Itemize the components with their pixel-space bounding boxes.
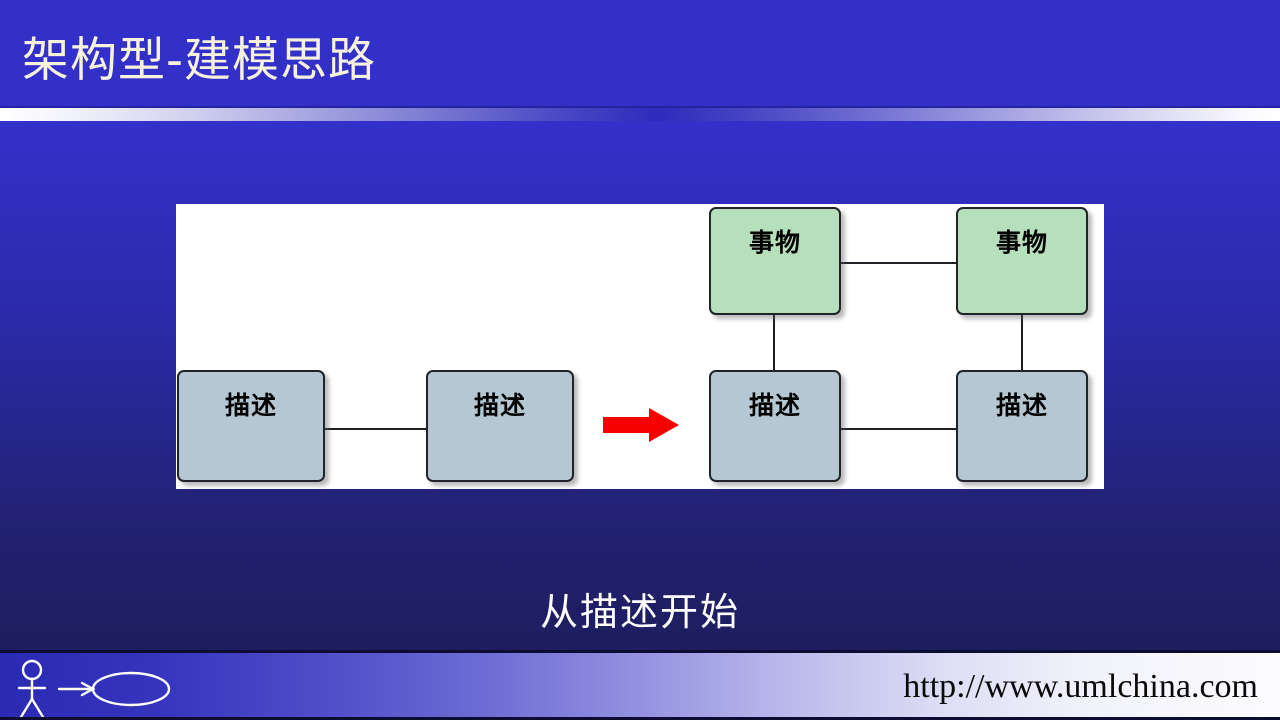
node-left-description-1[interactable]: 描述 xyxy=(177,370,325,482)
node-right-description-2[interactable]: 描述 xyxy=(956,370,1088,482)
node-label: 描述 xyxy=(996,372,1048,422)
page-title: 架构型-建模思路 xyxy=(22,33,376,89)
diagram-panel: 描述 描述 事物 事物 描述 描述 xyxy=(176,204,1104,489)
node-right-thing-1[interactable]: 事物 xyxy=(709,207,841,315)
node-right-description-1[interactable]: 描述 xyxy=(709,370,841,482)
node-label: 描述 xyxy=(225,372,277,422)
node-left-description-2[interactable]: 描述 xyxy=(426,370,574,482)
uml-use-case-icon xyxy=(14,657,204,719)
connector-left-desc1-desc2 xyxy=(324,428,426,430)
connector-right-desc1-desc2 xyxy=(840,428,956,430)
red-right-arrow-icon xyxy=(603,407,679,443)
node-label: 事物 xyxy=(996,209,1048,259)
node-label: 事物 xyxy=(749,209,801,259)
node-label: 描述 xyxy=(749,372,801,422)
slide-footer: http://www.umlchina.com xyxy=(0,650,1280,720)
node-right-thing-2[interactable]: 事物 xyxy=(956,207,1088,315)
header-divider-rule xyxy=(0,108,1280,121)
slide-canvas: 架构型-建模思路 描述 描述 事物 事物 描述 描述 xyxy=(0,0,1280,720)
footer-url-text: http://www.umlchina.com xyxy=(903,665,1258,709)
connector-right-thing2-desc2 xyxy=(1021,314,1023,376)
slide-caption: 从描述开始 xyxy=(0,588,1280,636)
node-label: 描述 xyxy=(474,372,526,422)
connector-right-thing1-thing2 xyxy=(840,262,956,264)
connector-right-thing1-desc1 xyxy=(773,314,775,376)
